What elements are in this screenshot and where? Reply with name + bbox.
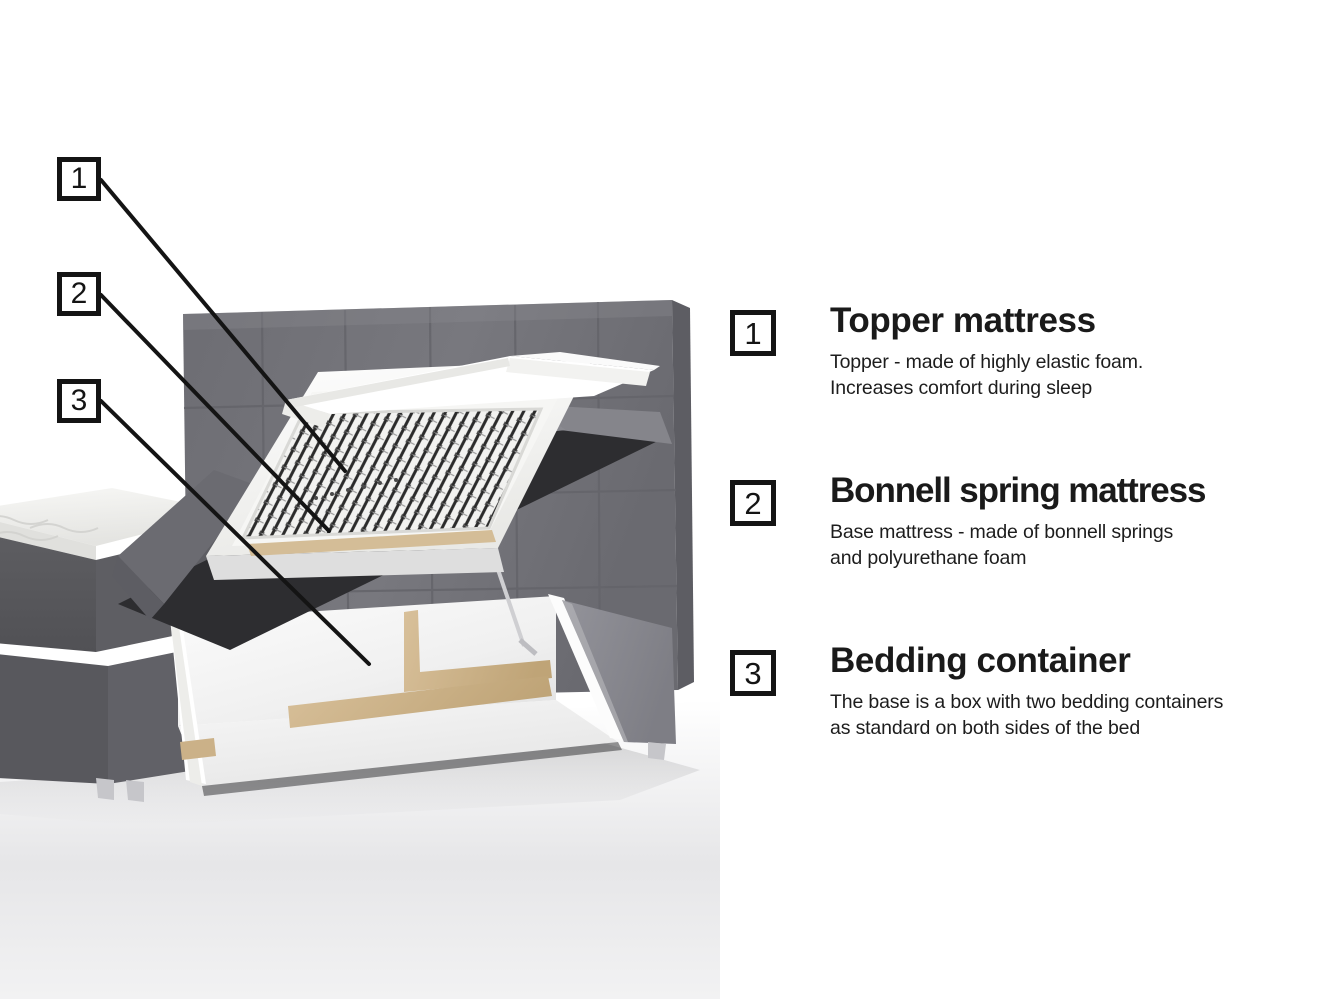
legend-text-2: Bonnell spring mattress Base mattress - … <box>830 473 1330 572</box>
product-illustration <box>0 0 720 999</box>
legend-description-3-line-2: as standard on both sides of the bed <box>830 715 1330 742</box>
legend-title-3: Bedding container <box>830 643 1330 680</box>
legend-text-1: Topper mattress Topper - made of highly … <box>830 303 1330 402</box>
legend-description-1-line-1: Topper - made of highly elastic foam. <box>830 349 1330 376</box>
legend-number-3: 3 <box>730 650 776 696</box>
legend-description-1-line-2: Increases comfort during sleep <box>830 375 1330 402</box>
legend-number-1-label: 1 <box>744 318 761 349</box>
bed-foot <box>126 780 144 802</box>
legend-number-3-label: 3 <box>744 658 761 689</box>
legend-panel: 1 Topper mattress Topper - made of highl… <box>722 0 1333 999</box>
callout-marker-1: 1 <box>57 157 101 201</box>
legend-description-2-line-1: Base mattress - made of bonnell springs <box>830 519 1330 546</box>
callout-marker-3: 3 <box>57 379 101 423</box>
bed-foot <box>96 778 114 800</box>
legend-description-1: Topper - made of highly elastic foam. In… <box>830 349 1330 402</box>
callout-marker-2-label: 2 <box>71 279 88 309</box>
legend-description-3: The base is a box with two bedding conta… <box>830 689 1330 742</box>
legend-text-3: Bedding container The base is a box with… <box>830 643 1330 742</box>
callout-marker-2: 2 <box>57 272 101 316</box>
legend-description-2-line-2: and polyurethane foam <box>830 545 1330 572</box>
legend-number-2-label: 2 <box>744 488 761 519</box>
callout-marker-1-label: 1 <box>71 164 88 194</box>
legend-description-2: Base mattress - made of bonnell springs … <box>830 519 1330 572</box>
legend-number-2: 2 <box>730 480 776 526</box>
legend-title-2: Bonnell spring mattress <box>830 473 1330 510</box>
legend-title-1: Topper mattress <box>830 303 1330 340</box>
legend-number-1: 1 <box>730 310 776 356</box>
legend-description-3-line-1: The base is a box with two bedding conta… <box>830 689 1330 716</box>
bed-foot <box>648 742 666 760</box>
infographic-canvas: 1 2 3 1 Topper mattress Topper - made of… <box>0 0 1333 999</box>
callout-marker-3-label: 3 <box>71 386 88 416</box>
